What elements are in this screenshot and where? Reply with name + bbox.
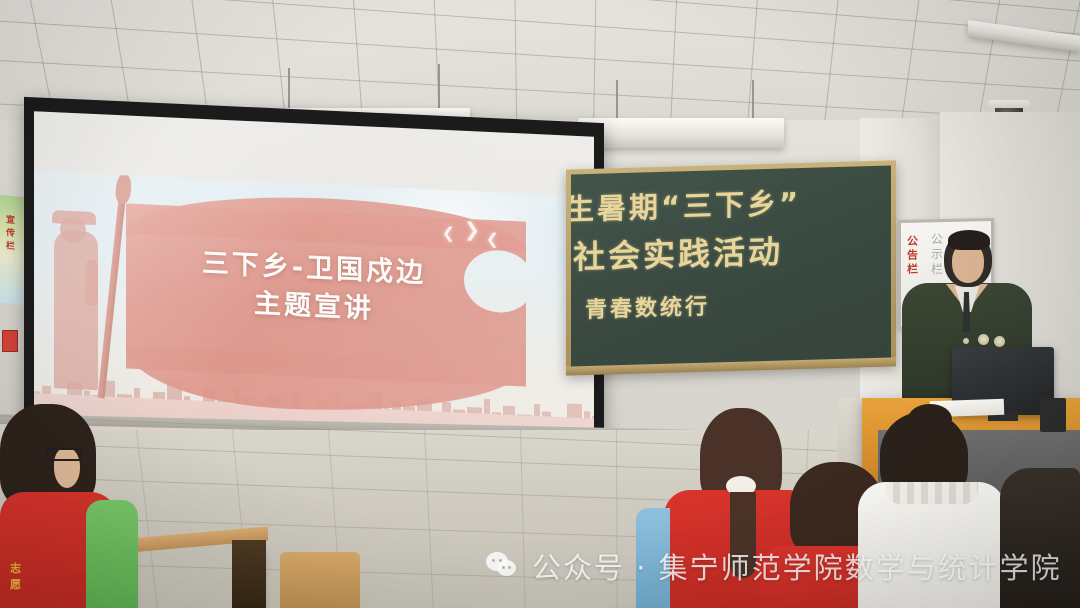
blackboard-line-3: 青春数统行 bbox=[585, 289, 710, 324]
presenter-fringe bbox=[948, 230, 990, 250]
notice-board-red-label: 公告栏 bbox=[907, 234, 923, 276]
presenter-button bbox=[963, 338, 969, 344]
student-dark-figure bbox=[1000, 468, 1080, 608]
blackboard-line-2: 社会实践活动 bbox=[573, 227, 783, 279]
lamp-wire bbox=[752, 80, 754, 122]
hair-bun-icon bbox=[908, 404, 952, 434]
student-desk-side bbox=[232, 540, 266, 608]
wall-poster: 宣传栏 bbox=[0, 195, 26, 306]
lace-collar bbox=[886, 482, 978, 504]
wall-poster-label: 宣传栏 bbox=[6, 213, 18, 253]
projection-screen: ❮ ❯ ❮ 三下乡-卫国戍边 主题宣讲 bbox=[24, 97, 604, 463]
wechat-icon bbox=[486, 552, 520, 580]
watermark: 公众号 · 集宁师范学院数学与统计学院 bbox=[486, 545, 1062, 587]
vest-text: 志愿 bbox=[10, 560, 22, 592]
watermark-text: 公众号 · 集宁师范学院数学与统计学院 bbox=[532, 545, 1062, 587]
blackboard-line-1: 生暑期“三下乡” bbox=[571, 180, 801, 229]
desk-object bbox=[1040, 398, 1066, 432]
dove-icon: ❮ bbox=[486, 230, 499, 249]
dove-icon: ❯ bbox=[464, 219, 480, 243]
ceiling-lamp bbox=[578, 118, 784, 148]
soldier-cap-icon bbox=[52, 210, 96, 225]
fire-alarm-box bbox=[2, 330, 18, 352]
screen-surface: ❮ ❯ ❮ 三下乡-卫国戍边 主题宣讲 bbox=[34, 111, 594, 452]
student-shirt bbox=[86, 500, 138, 608]
glasses-icon bbox=[46, 448, 82, 461]
presentation-slide: ❮ ❯ ❮ 三下乡-卫国戍边 主题宣讲 bbox=[34, 171, 594, 452]
presenter-badge-icon bbox=[994, 336, 1005, 347]
flag-pole-tip bbox=[114, 172, 132, 204]
dove-icon: ❮ bbox=[442, 224, 455, 243]
chair-back bbox=[280, 552, 360, 608]
presenter-badge-icon bbox=[978, 334, 989, 345]
classroom-photo: 宣传栏 ❮ ❯ ❮ 三下乡-卫国戍 bbox=[0, 0, 1080, 608]
blackboard: 生暑期“三下乡” 社会实践活动 青春数统行 bbox=[566, 160, 896, 374]
blackboard-surface: 生暑期“三下乡” 社会实践活动 青春数统行 bbox=[571, 166, 891, 370]
